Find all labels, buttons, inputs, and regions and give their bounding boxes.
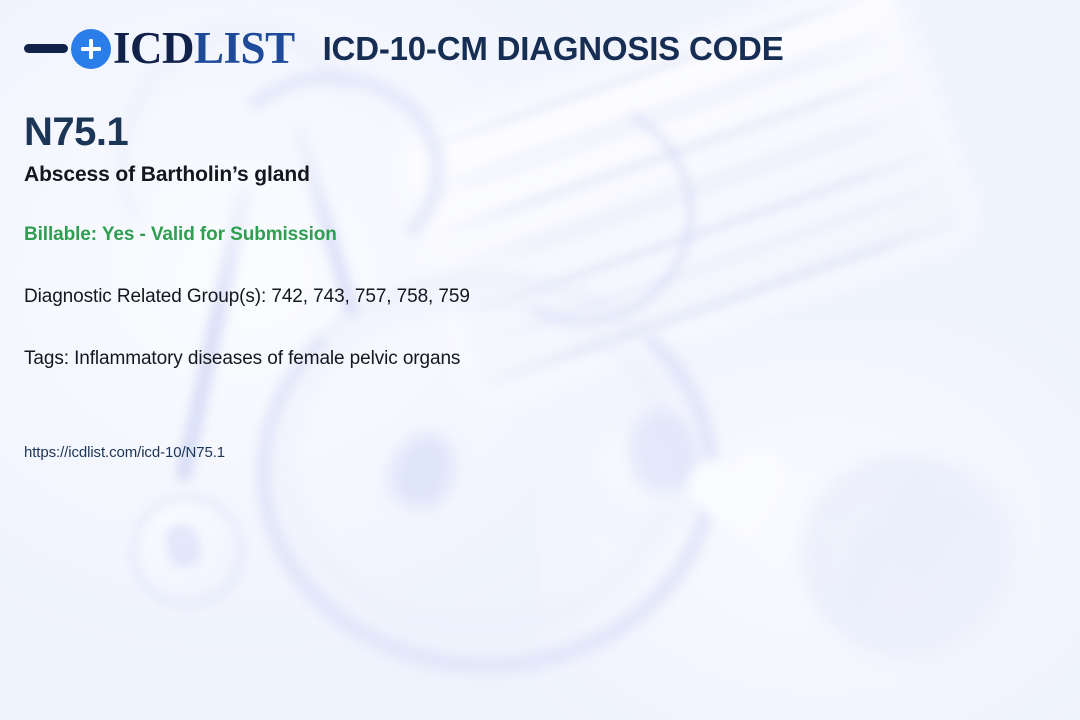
mask-ear-loop-right — [441, 71, 723, 353]
diagnostic-related-groups: Diagnostic Related Group(s): 742, 743, 7… — [24, 286, 470, 308]
hand-graphic — [800, 455, 1020, 665]
tags-line: Tags: Inflammatory diseases of female pe… — [24, 348, 460, 370]
stethoscope-bell-glow — [585, 415, 705, 535]
billable-status: Billable: Yes - Valid for Submission — [24, 224, 337, 246]
source-url[interactable]: https://icdlist.com/icd-10/N75.1 — [24, 444, 225, 461]
stethoscope-chestpiece-hub — [161, 521, 205, 572]
header: ICDLIST ICD-10-CM DIAGNOSIS CODE — [24, 26, 784, 71]
stethoscope-tubing-inner — [282, 296, 676, 632]
icdlist-logo[interactable]: ICDLIST — [24, 26, 295, 71]
icd-code-card: ICDLIST ICD-10-CM DIAGNOSIS CODE N75.1 A… — [0, 0, 1080, 720]
background-wash-left — [0, 0, 700, 660]
heart-icon — [678, 436, 822, 580]
code-description: Abscess of Bartholin’s gland — [24, 163, 310, 187]
stethoscope-tubing-loop — [255, 270, 719, 674]
dash-icon — [24, 44, 68, 53]
stethoscope-eartip-right — [620, 404, 706, 499]
hand-finger — [837, 517, 896, 615]
page-title: ICD-10-CM DIAGNOSIS CODE — [323, 30, 784, 68]
background-wash-right — [540, 320, 1080, 720]
logo-text-icd: ICD — [113, 26, 194, 71]
stethoscope-eartip-left — [380, 423, 466, 517]
code-number: N75.1 — [24, 110, 310, 154]
hand-finger — [864, 466, 942, 578]
logo-text-list: LIST — [194, 26, 295, 71]
hand-finger — [890, 489, 975, 592]
plus-circle-icon — [71, 29, 111, 69]
code-block: N75.1 Abscess of Bartholin’s gland — [24, 110, 310, 187]
stethoscope-chestpiece — [132, 495, 244, 607]
